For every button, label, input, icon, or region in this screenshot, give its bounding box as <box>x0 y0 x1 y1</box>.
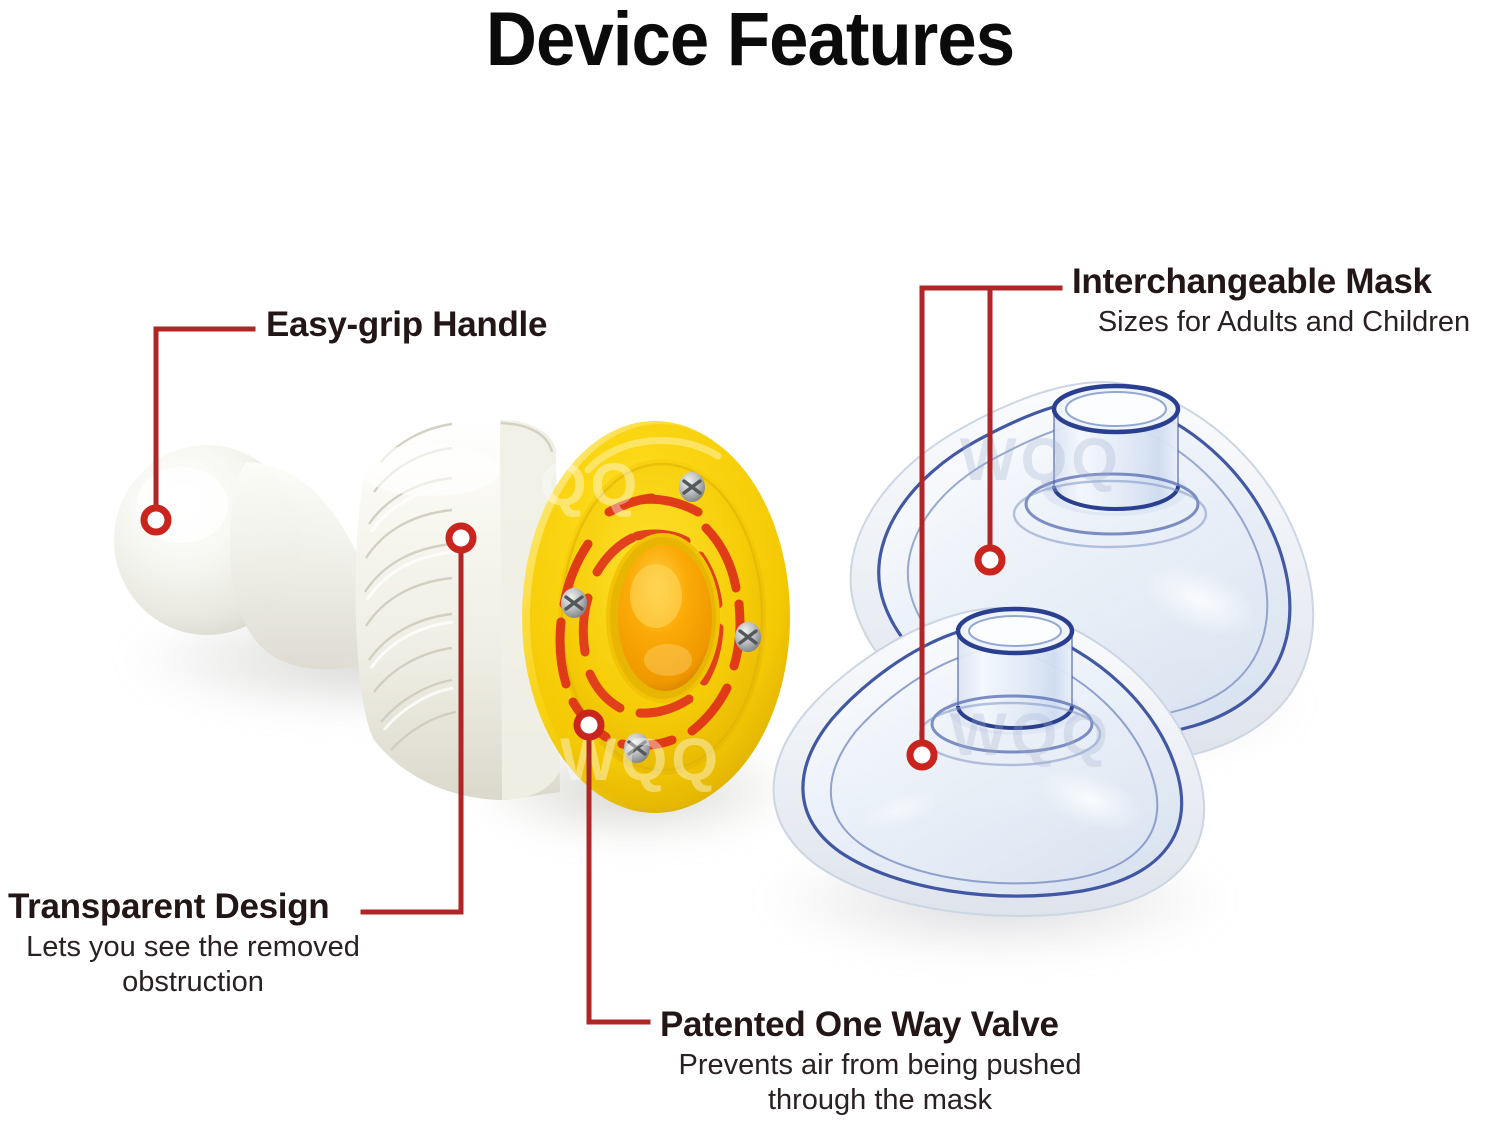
callout-subtitle-mask: Sizes for Adults and Children <box>1072 305 1496 340</box>
callout-interchangeable-mask: Interchangeable Mask Sizes for Adults an… <box>1072 263 1496 340</box>
infographic-canvas: QQ WQQ WQQ WQQ Device Features Easy-grip… <box>0 0 1500 1129</box>
leader-transparent <box>363 550 461 912</box>
callout-subtitle-valve-line1: Prevents air from being pushed <box>660 1048 1100 1083</box>
callout-patented-one-way-valve: Patented One Way Valve Prevents air from… <box>660 1006 1100 1119</box>
marker-valve <box>577 713 601 737</box>
callout-subtitle-transparent-line2: obstruction <box>8 965 378 1000</box>
callout-title-handle: Easy-grip Handle <box>266 306 547 344</box>
leader-valve <box>589 737 648 1022</box>
callout-title-mask: Interchangeable Mask <box>1072 263 1496 301</box>
callout-transparent-design: Transparent Design Lets you see the remo… <box>8 888 378 1001</box>
callout-easy-grip-handle: Easy-grip Handle <box>266 306 547 344</box>
marker-transparent <box>449 526 473 550</box>
marker-handle <box>144 508 168 532</box>
leader-handle <box>156 329 253 508</box>
callout-title-transparent: Transparent Design <box>8 888 378 926</box>
callout-title-valve: Patented One Way Valve <box>660 1006 1100 1044</box>
marker-mask-small <box>910 743 934 767</box>
callout-subtitle-transparent-line1: Lets you see the removed <box>8 930 378 965</box>
page-title: Device Features <box>53 0 1448 83</box>
marker-mask-large <box>978 548 1002 572</box>
callout-subtitle-valve-line2: through the mask <box>660 1083 1100 1118</box>
